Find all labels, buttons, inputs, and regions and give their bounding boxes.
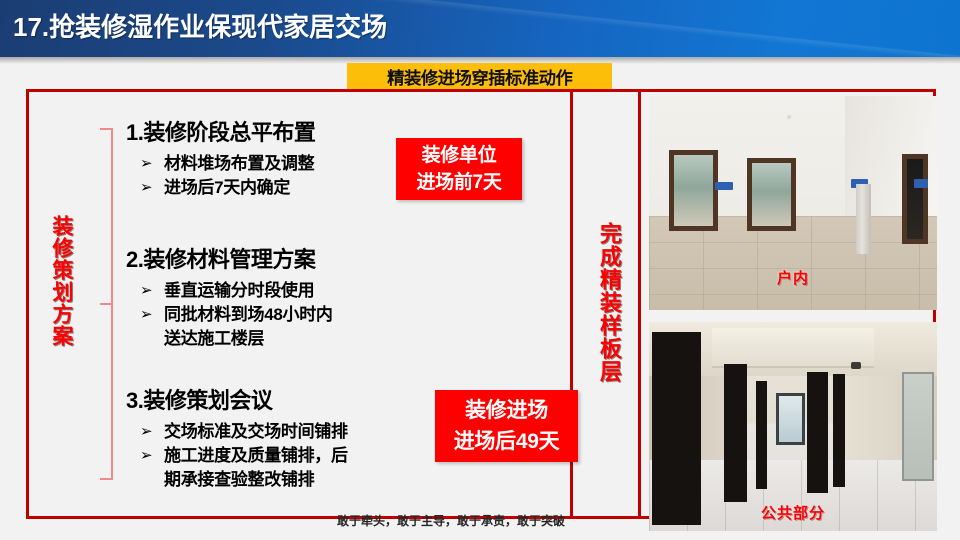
bullet-text: 同批材料到场48小时内 <box>164 304 333 326</box>
corridor-door-right <box>807 372 827 493</box>
arrow-bullet-icon: ➢ <box>140 177 164 199</box>
arrow-bullet-icon: ➢ <box>140 280 164 302</box>
room-column <box>856 184 870 255</box>
yellow-banner: 精装修进场穿插标准动作 <box>347 63 612 90</box>
footer-slogan: 敢于牵头，敢于主导，敢于承责，敢于突破 <box>337 512 565 529</box>
slide-canvas: 17.抢装修湿作业保现代家居交场 精装修进场穿插标准动作 装修策划方案 1.装修… <box>0 0 960 540</box>
bullet-item: ➢ 垂直运输分时段使用 <box>140 280 333 302</box>
section-material-management: 2.装修材料管理方案 ➢ 垂直运输分时段使用 ➢ 同批材料到场48小时内 送达施… <box>126 242 333 352</box>
bullet-item: ➢ 材料堆场布置及调整 <box>140 153 315 175</box>
bullet-item: ➢ 进场后7天内确定 <box>140 177 315 199</box>
callout-line-1: 装修进场 <box>465 395 548 426</box>
callout-decoration-unit: 装修单位 进场前7天 <box>396 138 522 200</box>
bullet-item: ➢ 同批材料到场48小时内 <box>140 304 333 326</box>
brace-arm-middle <box>100 303 112 305</box>
bullet-text: 垂直运输分时段使用 <box>164 280 314 302</box>
yellow-banner-label: 精装修进场穿插标准动作 <box>387 64 572 89</box>
right-vertical-label: 完成精装样板层 <box>592 222 622 383</box>
corridor-door-near-left <box>652 332 701 524</box>
brace-arm-bottom <box>100 478 112 480</box>
room-wall-plaque-left <box>715 182 732 191</box>
frame-divider-right <box>638 89 641 519</box>
bullet-text: 送达施工楼层 <box>164 328 264 350</box>
bullet-item: 期承接查验整改铺排 <box>140 469 348 491</box>
corridor-glass-door <box>902 372 934 481</box>
bullet-text: 材料堆场布置及调整 <box>164 153 314 175</box>
bullet-item: 送达施工楼层 <box>140 328 333 350</box>
section-title: 1.装修阶段总平布置 <box>126 115 315 147</box>
callout-line-2: 进场前7天 <box>416 169 501 196</box>
left-vertical-label: 装修策划方案 <box>44 215 74 347</box>
bullet-text: 施工进度及质量铺排，后 <box>164 445 348 467</box>
bullet-text: 期承接查验整改铺排 <box>164 469 314 491</box>
section-bullet-list: ➢ 垂直运输分时段使用 ➢ 同批材料到场48小时内 送达施工楼层 <box>126 280 333 350</box>
room-door-center <box>747 158 796 231</box>
arrow-bullet-icon: ➢ <box>140 304 164 326</box>
bullet-text: 交场标准及交场时间铺排 <box>164 421 348 443</box>
section-bullet-list: ➢ 材料堆场布置及调整 ➢ 进场后7天内确定 <box>126 153 315 199</box>
section-bullet-list: ➢ 交场标准及交场时间铺排 ➢ 施工进度及质量铺排，后 期承接查验整改铺排 <box>126 421 348 491</box>
photo-interior: 户内 <box>649 96 937 310</box>
corridor-ceiling-recess <box>712 328 873 368</box>
bullet-text: 进场后7天内确定 <box>164 177 290 199</box>
corridor-end-window <box>776 393 805 445</box>
left-brace <box>100 128 114 480</box>
room-wall-plaque-far <box>914 179 928 188</box>
security-camera-icon <box>851 362 861 369</box>
corridor-door-far-right <box>833 374 845 487</box>
room-door-right <box>902 154 928 244</box>
section-title: 2.装修材料管理方案 <box>126 242 333 274</box>
section-planning-meeting: 3.装修策划会议 ➢ 交场标准及交场时间铺排 ➢ 施工进度及质量铺排，后 期承接… <box>126 383 348 493</box>
section-decoration-layout: 1.装修阶段总平布置 ➢ 材料堆场布置及调整 ➢ 进场后7天内确定 <box>126 115 315 201</box>
arrow-bullet-icon: ➢ <box>140 153 164 175</box>
corridor-door-far-left <box>756 381 768 490</box>
photo-caption-interior: 户内 <box>649 267 937 288</box>
room-door-left <box>669 150 718 231</box>
arrow-bullet-icon: ➢ <box>140 445 164 467</box>
slide-title-bar: 17.抢装修湿作业保现代家居交场 <box>0 0 960 57</box>
bullet-item: ➢ 交场标准及交场时间铺排 <box>140 421 348 443</box>
photo-caption-corridor: 公共部分 <box>649 502 937 523</box>
callout-line-1: 装修单位 <box>422 142 497 169</box>
page-title: 17.抢装修湿作业保现代家居交场 <box>13 7 387 44</box>
brace-arm-top <box>100 128 112 130</box>
bullet-item: ➢ 施工进度及质量铺排，后 <box>140 445 348 467</box>
corridor-door-mid-left <box>724 364 747 502</box>
callout-decoration-entry: 装修进场 进场后49天 <box>435 390 578 462</box>
callout-line-2: 进场后49天 <box>454 426 560 457</box>
section-title: 3.装修策划会议 <box>126 383 348 415</box>
photo-corridor: 公共部分 <box>649 322 937 531</box>
arrow-bullet-icon: ➢ <box>140 421 164 443</box>
